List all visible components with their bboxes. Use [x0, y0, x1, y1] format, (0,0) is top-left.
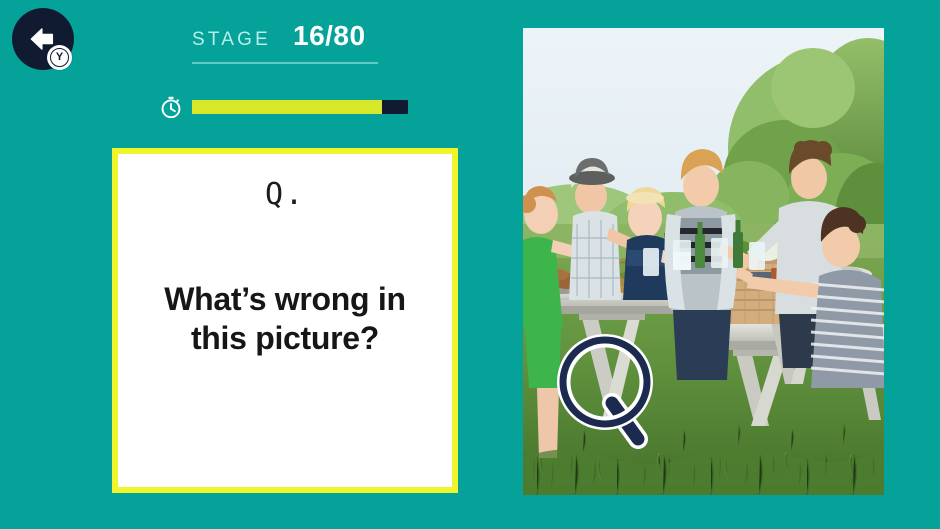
magnifier-icon[interactable] [556, 333, 656, 453]
timer-track [192, 100, 408, 114]
timer [160, 96, 408, 118]
stage-value: 16/80 [293, 22, 366, 50]
stage-label: STAGE [192, 30, 271, 49]
stage-header: STAGE 16/80 [192, 22, 382, 64]
stopwatch-icon [160, 96, 182, 118]
question-card: Q. What’s wrong in this picture? [112, 148, 458, 493]
stage-row: STAGE 16/80 [192, 22, 382, 56]
y-badge-ring: Y [50, 48, 69, 67]
question-marker: Q. [265, 180, 305, 210]
question-text-line-1: What’s wrong in [135, 280, 435, 319]
question-text-line-2: this picture? [135, 319, 435, 358]
timer-fill [192, 100, 382, 114]
game-screen: Y STAGE 16/80 Q. What’s wrong in this pi… [0, 0, 940, 529]
question-text: What’s wrong in this picture? [135, 280, 435, 358]
stage-divider [192, 62, 378, 64]
y-badge-label: Y [56, 52, 63, 63]
y-button-badge[interactable]: Y [47, 45, 72, 70]
